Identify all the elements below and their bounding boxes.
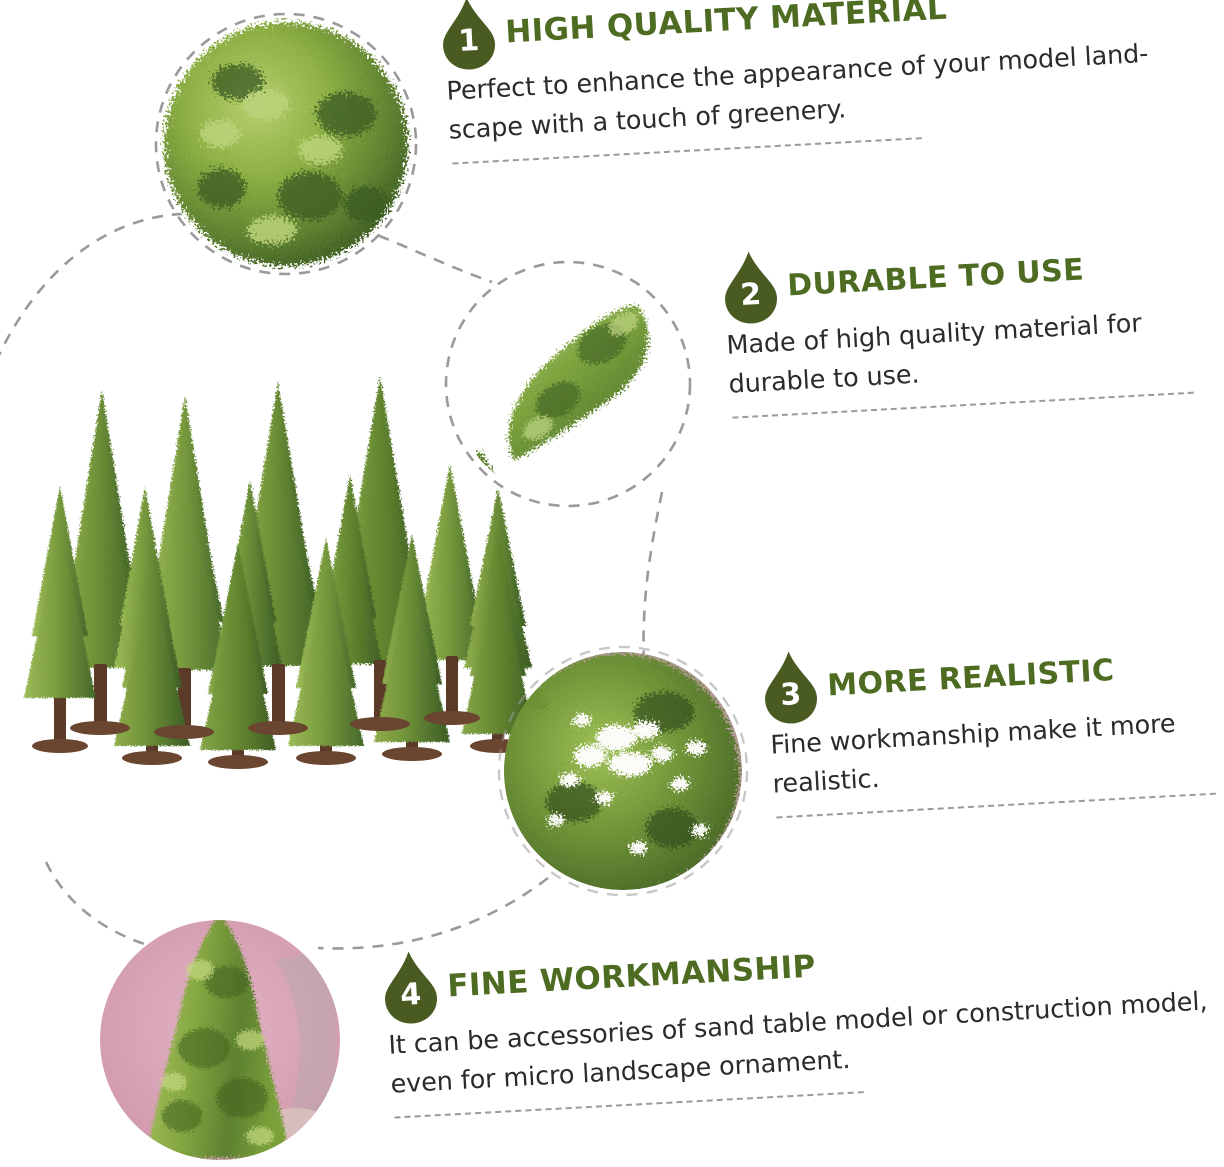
- teardrop-badge-icon: 2: [721, 249, 779, 326]
- badge-number-2: 2: [723, 279, 779, 312]
- detail-circle-tree-tip: [452, 268, 684, 500]
- feature-block-1: 1 HIGH QUALITY MATERIAL Perfect to enhan…: [440, 0, 1224, 164]
- white-blossom-illustration: [504, 652, 742, 890]
- teardrop-badge-icon: 4: [381, 949, 439, 1026]
- detail-circle-tree-on-pink: [100, 920, 340, 1160]
- feature-4-title: FINE WORKMANSHIP: [446, 939, 817, 1003]
- feature-block-3: 3 MORE REALISTIC Fine workmanship make i…: [762, 637, 1224, 818]
- teardrop-badge-icon: 1: [439, 0, 497, 72]
- tree-on-pink-illustration: [100, 920, 340, 1160]
- teardrop-badge-icon: 3: [761, 649, 819, 726]
- foliage-closeup-illustration: [160, 18, 412, 270]
- infographic-canvas: 1 HIGH QUALITY MATERIAL Perfect to enhan…: [0, 0, 1224, 1167]
- tree-tip-illustration: [452, 268, 684, 500]
- detail-circle-foliage-closeup: [160, 18, 412, 270]
- feature-block-2: 2 DURABLE TO USE Made of high quality ma…: [722, 235, 1224, 418]
- feature-block-4: 4 FINE WORKMANSHIP It can be accessories…: [382, 916, 1224, 1119]
- badge-number-3: 3: [763, 679, 819, 712]
- feature-2-title: DURABLE TO USE: [786, 242, 1085, 301]
- detail-circle-white-blossoms: [504, 652, 742, 890]
- badge-number-1: 1: [441, 25, 497, 58]
- feature-3-title: MORE REALISTIC: [826, 643, 1115, 702]
- badge-number-4: 4: [383, 979, 439, 1012]
- feature-1-title: HIGH QUALITY MATERIAL: [504, 0, 948, 49]
